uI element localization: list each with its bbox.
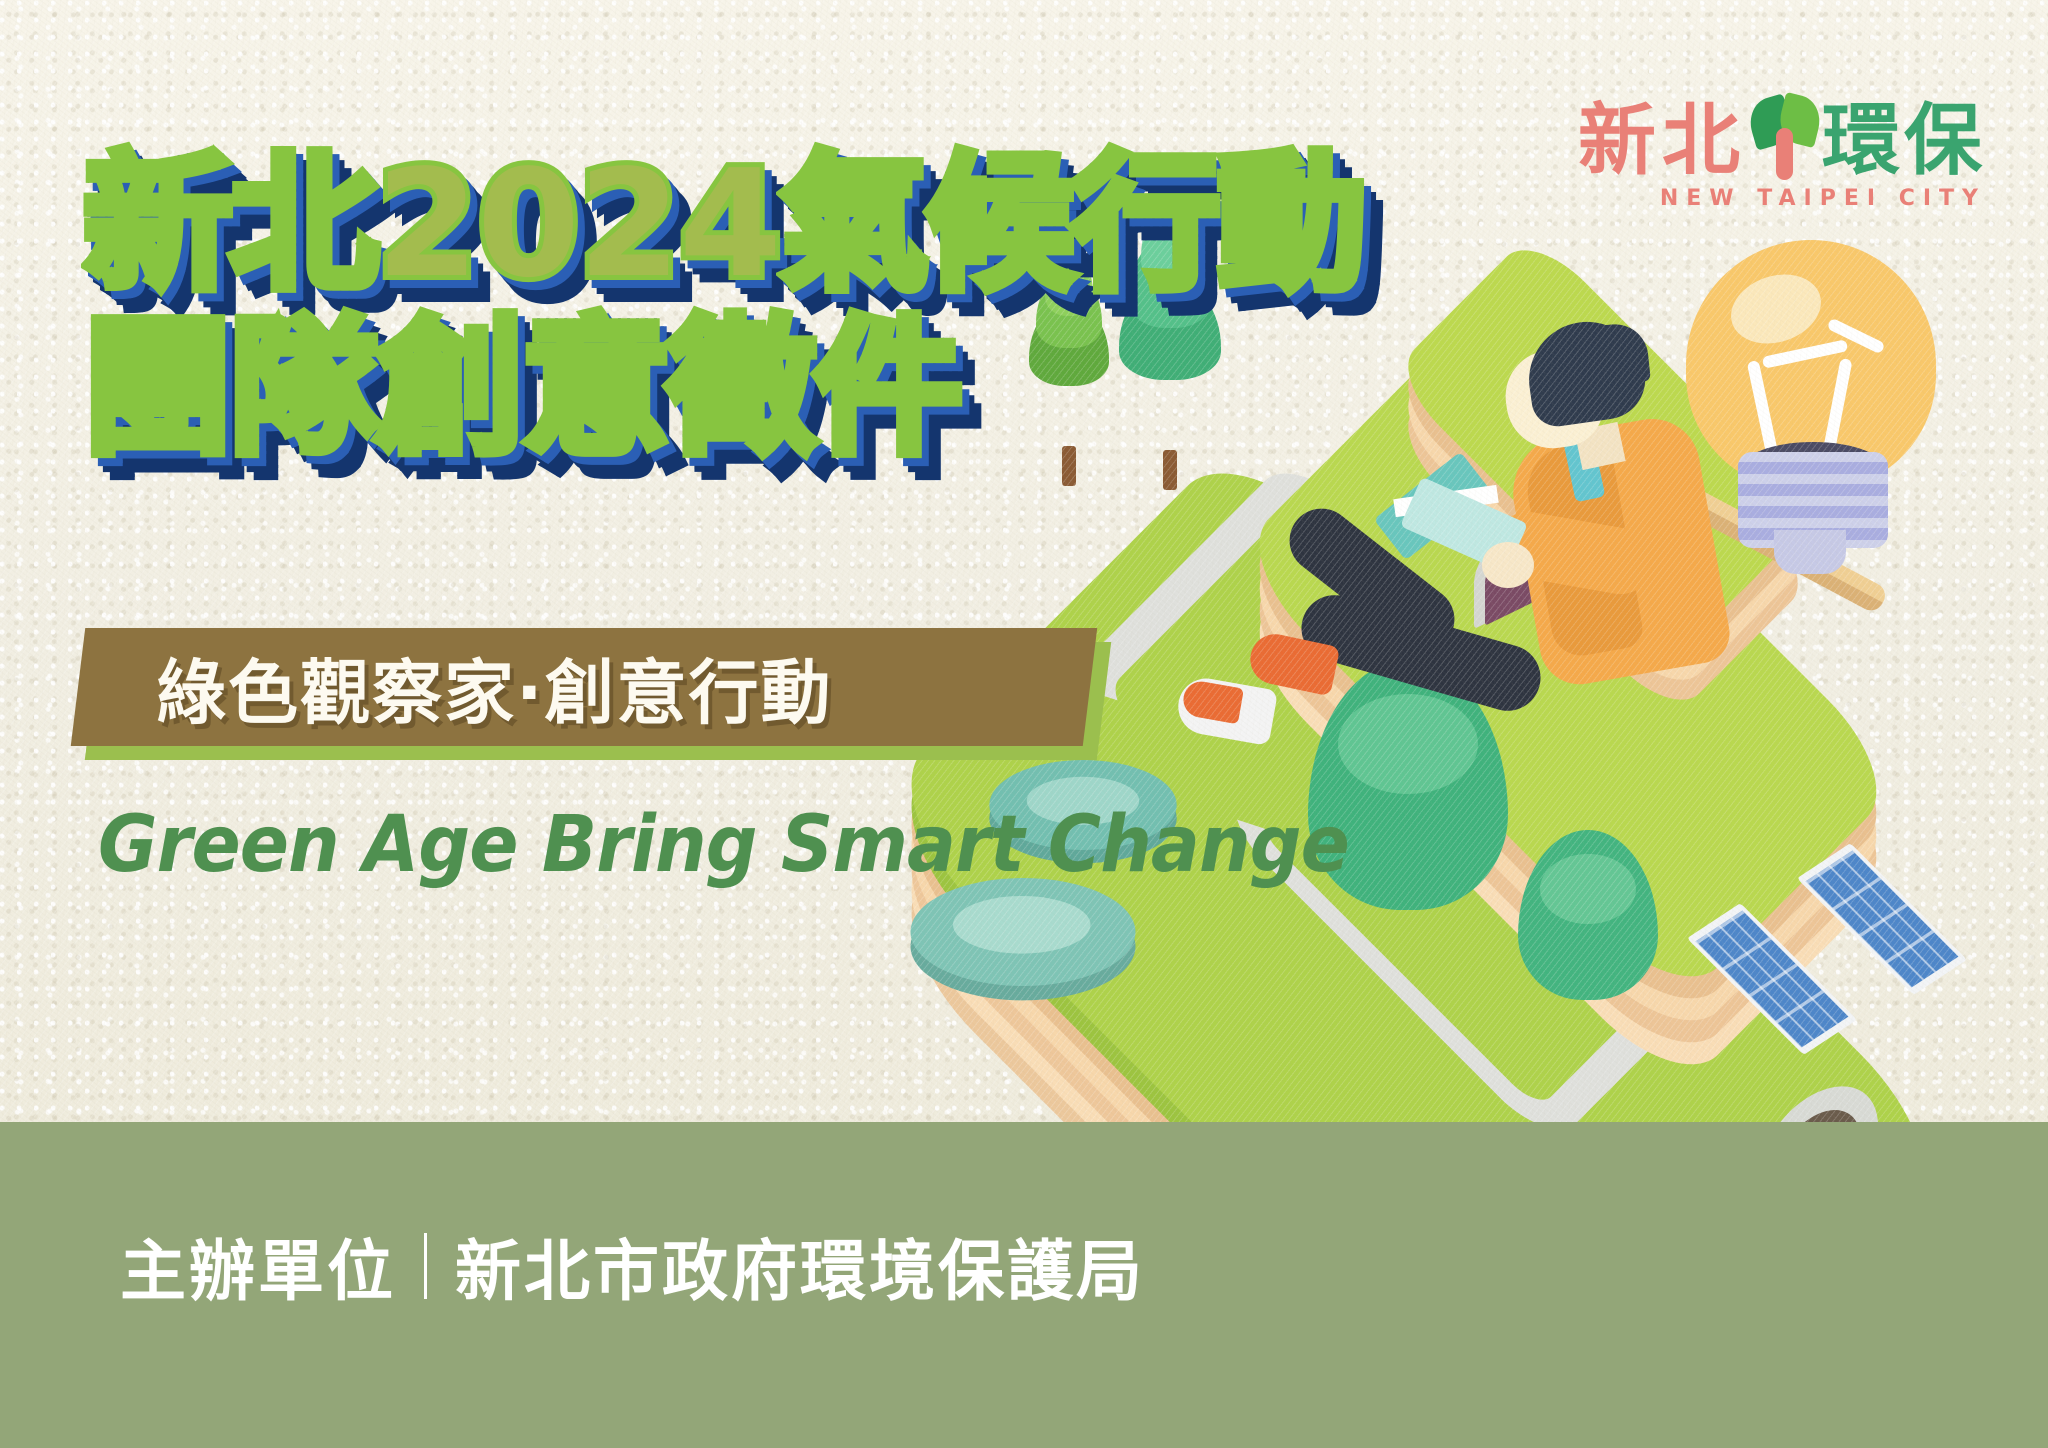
organizer-divider — [424, 1233, 427, 1299]
leaf-heart-i-icon — [1752, 98, 1816, 180]
title-line-1: 新北2024氣候行動 — [84, 150, 1364, 298]
poster-canvas: 新北 環保 NEW TAIPEI CITY 新北2024氣候行動 團隊創意徵件 … — [0, 0, 2048, 1448]
title-line2-text: 團隊創意徵件 — [84, 314, 960, 462]
subtitle-banner: 綠色觀察家·創意行動 — [78, 628, 1090, 746]
title-line1-suffix: 氣候行動 — [780, 150, 1364, 298]
title-line1-prefix: 新北 — [84, 150, 376, 298]
title-line-2: 團隊創意徵件 — [84, 314, 1364, 462]
subtitle-banner-bar: 綠色觀察家·創意行動 — [71, 628, 1097, 746]
pond-lower — [911, 878, 1136, 986]
organizer-name: 新北市政府環境保護局 — [455, 1218, 1145, 1314]
subtitle-text: 綠色觀察家·創意行動 — [156, 637, 833, 738]
logo-english-text: NEW TAIPEI CITY — [1578, 186, 1986, 211]
logo-wordmark: 新北 環保 — [1578, 98, 1986, 180]
organizer-line: 主辦單位 新北市政府環境保護局 — [120, 1218, 1145, 1314]
footer-bar: 主辦單位 新北市政府環境保護局 — [0, 1122, 2048, 1448]
logo-city-text: 新北 — [1578, 102, 1746, 180]
organizer-label: 主辦單位 — [120, 1218, 396, 1314]
poster-title: 新北2024氣候行動 團隊創意徵件 — [84, 150, 1364, 462]
new-taipei-eco-logo: 新北 環保 NEW TAIPEI CITY — [1578, 98, 1986, 211]
person-hand — [1482, 542, 1534, 588]
english-tagline: Green Age Bring Smart Change — [98, 800, 1349, 890]
light-bulb-foot — [1774, 530, 1846, 574]
solar-panel-back-icon — [1816, 870, 1948, 968]
title-line1-year: 2024 — [376, 150, 780, 298]
logo-eco-text: 環保 — [1822, 102, 1986, 180]
